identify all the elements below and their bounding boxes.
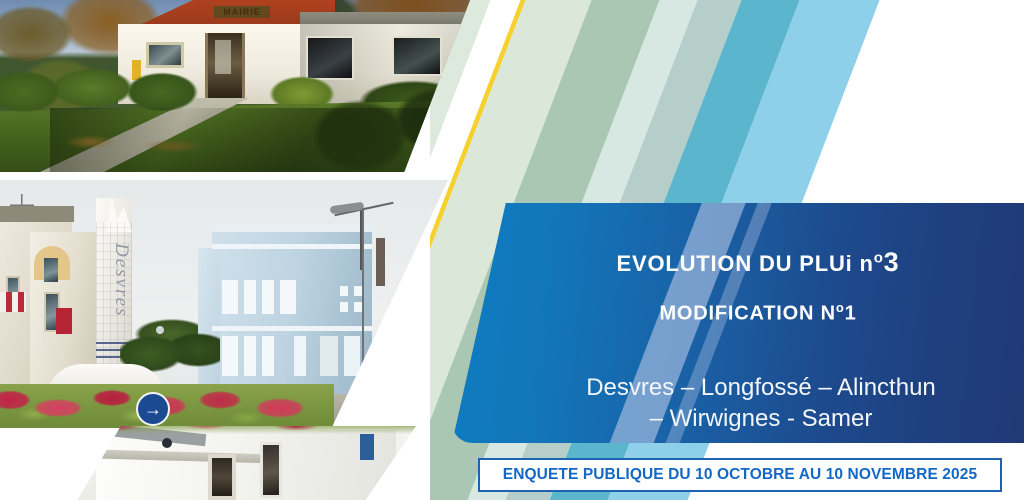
entrance-door	[208, 454, 236, 500]
window	[146, 42, 184, 68]
page-subtitle-number: 1	[845, 303, 857, 325]
window	[44, 258, 58, 282]
page-title: EVOLUTION DU PLUi no3	[577, 247, 900, 278]
page-subtitle: MODIFICATION No1	[619, 300, 856, 326]
title-panel: EVOLUTION DU PLUi no3 MODIFICATION No1 D…	[452, 203, 1024, 443]
blue-shutter	[360, 434, 374, 460]
mairie-sign: MAIRIE	[214, 6, 270, 18]
village-building-photo	[56, 426, 416, 500]
photo-collage: MAIRIE	[0, 0, 520, 500]
window-row	[222, 280, 332, 314]
facade-band	[212, 244, 372, 249]
tv-antenna-icon	[10, 194, 34, 206]
commune-list: Desvres – Longfossé – Alincthun – Wirwig…	[538, 372, 938, 435]
shop-awning	[0, 292, 26, 312]
panel-content: EVOLUTION DU PLUi no3 MODIFICATION No1 D…	[452, 203, 1024, 443]
arrow-right-road-sign-icon: →	[136, 392, 170, 426]
fallen-leaves	[56, 130, 236, 158]
roof	[0, 206, 74, 222]
lamp-post	[362, 208, 364, 408]
facade-band	[212, 326, 372, 331]
shop-sign	[56, 308, 72, 334]
poster-root: MAIRIE	[0, 0, 1024, 500]
public-inquiry-banner: ENQUETE PUBLIQUE DU 10 OCTOBRE AU 10 NOV…	[478, 458, 1002, 492]
window	[392, 36, 442, 76]
page-title-number: 3	[884, 247, 900, 277]
page-subtitle-degree: o	[836, 300, 845, 315]
cornice	[210, 224, 374, 232]
window-group	[340, 286, 364, 312]
globe-lamp-icon	[156, 326, 164, 334]
page-title-text: EVOLUTION DU PLUi n	[617, 251, 874, 276]
building-wall	[96, 430, 396, 500]
page-title-degree: o	[874, 250, 884, 267]
window	[260, 442, 282, 498]
tower-inscription: Desvres	[98, 232, 132, 328]
wall-lamp-icon	[162, 438, 172, 448]
public-inquiry-text: ENQUETE PUBLIQUE DU 10 OCTOBRE AU 10 NOV…	[503, 466, 977, 484]
mairie-photo: MAIRIE	[0, 0, 470, 172]
page-subtitle-text: MODIFICATION N	[659, 303, 835, 325]
window-row	[222, 336, 364, 376]
door-glass	[215, 40, 231, 74]
desvres-tower-photo: Desvres →	[0, 180, 448, 428]
chimney	[376, 238, 385, 286]
